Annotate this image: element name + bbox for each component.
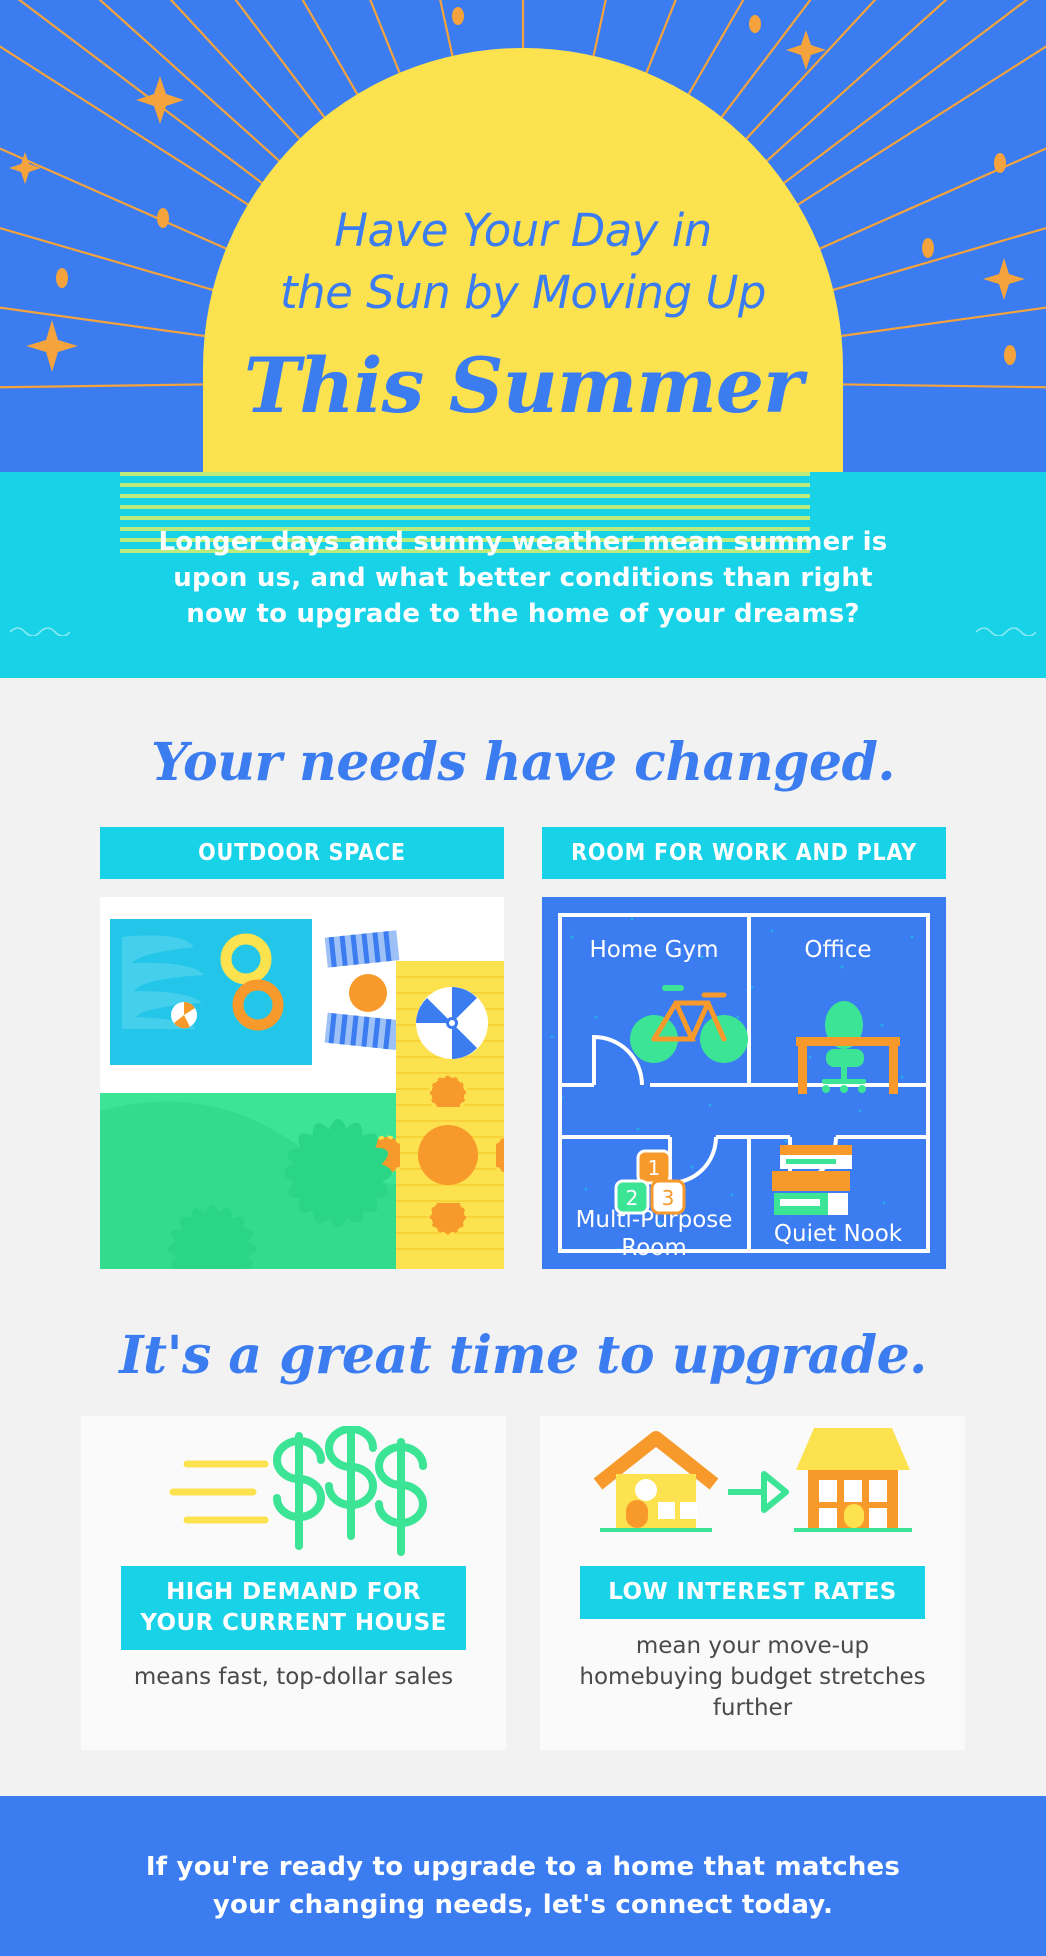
upgrade-heading: It's a great time to upgrade. [0, 1325, 1046, 1386]
footer-cta: If you're ready to upgrade to a home tha… [0, 1796, 1046, 1956]
card-low-rates: LOW INTEREST RATES mean your move-up hom… [540, 1416, 965, 1750]
chip-high-demand: HIGH DEMAND FOR YOUR CURRENT HOUSE [121, 1566, 466, 1650]
intro-band: Longer days and sunny weather mean summe… [0, 472, 1046, 678]
svg-text:3: 3 [662, 1186, 675, 1210]
needs-columns: OUTDOOR SPACE [0, 827, 1046, 1269]
intro-line-2: upon us, and what better conditions than… [0, 560, 1046, 596]
upgrade-cards: HIGH DEMAND FOR YOUR CURRENT HOUSE means… [0, 1416, 1046, 1750]
footer-line-2: your changing needs, let's connect today… [146, 1886, 900, 1924]
umbrella-icon [416, 987, 488, 1059]
dollar-signs-icon [81, 1416, 506, 1566]
footer-line-1: If you're ready to upgrade to a home tha… [146, 1848, 900, 1886]
svg-text:2: 2 [626, 1186, 639, 1210]
small-house-icon [598, 1438, 714, 1532]
note-high-demand: means fast, top-dollar sales [81, 1662, 506, 1693]
svg-text:1: 1 [648, 1156, 661, 1180]
upgrade-section: It's a great time to upgrade. [0, 1269, 1046, 1796]
needs-column-rooms: ROOM FOR WORK AND PLAY [542, 827, 946, 1269]
hero-title-block: Have Your Day in the Sun by Moving Up Th… [0, 0, 1046, 434]
note-low-rates: mean your move-up homebuying budget stre… [540, 1631, 965, 1724]
intro-line-3: now to upgrade to the home of your dream… [0, 596, 1046, 632]
footer-text: If you're ready to upgrade to a home tha… [146, 1848, 900, 1924]
card-high-demand: HIGH DEMAND FOR YOUR CURRENT HOUSE means… [81, 1416, 506, 1750]
needs-column-outdoor: OUTDOOR SPACE [100, 827, 504, 1269]
needs-section: Your needs have changed. OUTDOOR SPACE [0, 678, 1046, 1269]
infographic-page: Have Your Day in the Sun by Moving Up Th… [0, 0, 1046, 1956]
house-upgrade-arrow-icon [540, 1416, 965, 1566]
needs-heading: Your needs have changed. [0, 732, 1046, 793]
intro-line-1: Longer days and sunny weather mean summe… [0, 524, 1046, 560]
arrow-right-icon [728, 1474, 786, 1510]
room-label-home-gym: Home Gym [589, 937, 718, 963]
chip-low-rates: LOW INTEREST RATES [580, 1566, 925, 1619]
room-label-multipurpose-2: Room [621, 1235, 687, 1261]
floorplan-illustration: Home Gym Office Multi-Purpose Room Quiet… [542, 897, 946, 1269]
chip-outdoor-space: OUTDOOR SPACE [100, 827, 504, 879]
chip-room-work-play: ROOM FOR WORK AND PLAY [542, 827, 946, 879]
room-label-office: Office [804, 937, 871, 963]
backyard-illustration [100, 897, 504, 1269]
hero-title-line-2: the Sun by Moving Up [0, 262, 1046, 324]
hero-title-emphasis: This Summer [0, 338, 1046, 434]
book-stack-icon [772, 1145, 852, 1215]
intro-paragraph: Longer days and sunny weather mean summe… [0, 524, 1046, 632]
hero-section: Have Your Day in the Sun by Moving Up Th… [0, 0, 1046, 472]
hero-title-line-1: Have Your Day in [0, 200, 1046, 262]
big-house-icon [794, 1428, 912, 1532]
room-label-quiet-nook: Quiet Nook [774, 1221, 903, 1247]
